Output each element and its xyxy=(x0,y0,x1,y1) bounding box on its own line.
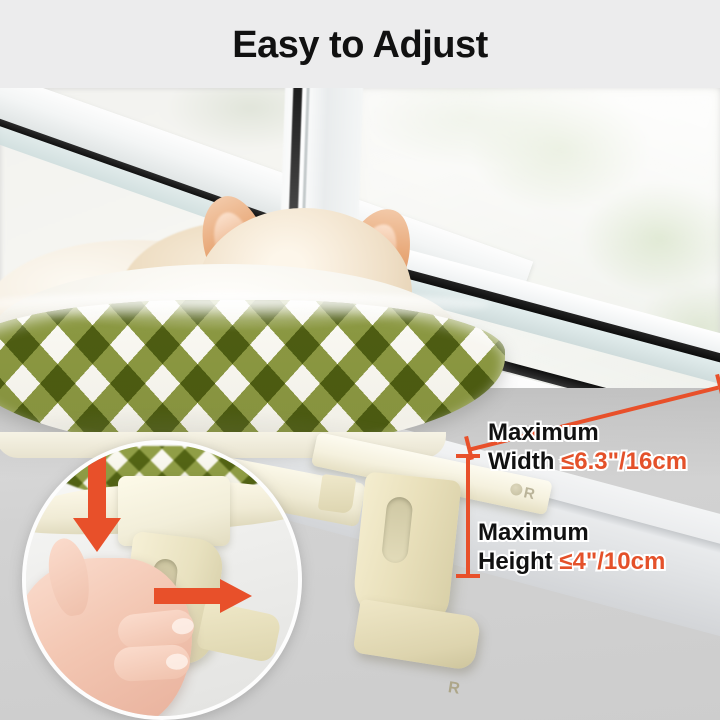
header-band: Easy to Adjust xyxy=(0,0,720,88)
max-width-line1: Maximum xyxy=(488,418,687,447)
mount-bar-hole xyxy=(509,482,523,496)
max-height-line1: Maximum xyxy=(478,518,665,547)
page-title: Easy to Adjust xyxy=(0,22,720,68)
max-height-label: Height xyxy=(478,548,553,575)
max-height-line2: Height ≤4"/10cm xyxy=(478,547,665,576)
max-width-callout: Maximum Width ≤6.3"/16cm xyxy=(488,418,687,476)
press-down-arrow-shaft xyxy=(88,454,106,520)
max-height-callout: Maximum Height ≤4"/10cm xyxy=(478,518,665,576)
cat-bed-plush-texture xyxy=(0,300,505,450)
adjustment-detail-inset xyxy=(22,440,302,720)
max-width-label: Width xyxy=(488,448,554,475)
product-feature-image: R R Maximum Width ≤6.3"/16cm Maximum Hei… xyxy=(0,0,720,720)
max-width-value: ≤6.3"/16cm xyxy=(561,448,687,475)
slide-right-arrow-shaft xyxy=(154,588,224,604)
cat-bed xyxy=(0,256,520,466)
fingernail-middle xyxy=(166,653,189,670)
max-width-line2: Width ≤6.3"/16cm xyxy=(488,447,687,476)
hardware-marking-r-hook: R xyxy=(447,679,461,699)
mount-hook-slot xyxy=(381,496,414,564)
fingernail-index xyxy=(171,617,195,635)
mount-clip xyxy=(318,474,357,514)
hardware-marking-r-top: R xyxy=(522,484,536,503)
press-down-arrow-head xyxy=(73,518,121,552)
inset-scene xyxy=(22,440,302,720)
finger-middle xyxy=(113,644,191,682)
cat-bed-checkered-rim xyxy=(0,300,505,450)
slide-right-arrow-head xyxy=(220,579,252,613)
max-height-value: ≤4"/10cm xyxy=(559,548,665,575)
